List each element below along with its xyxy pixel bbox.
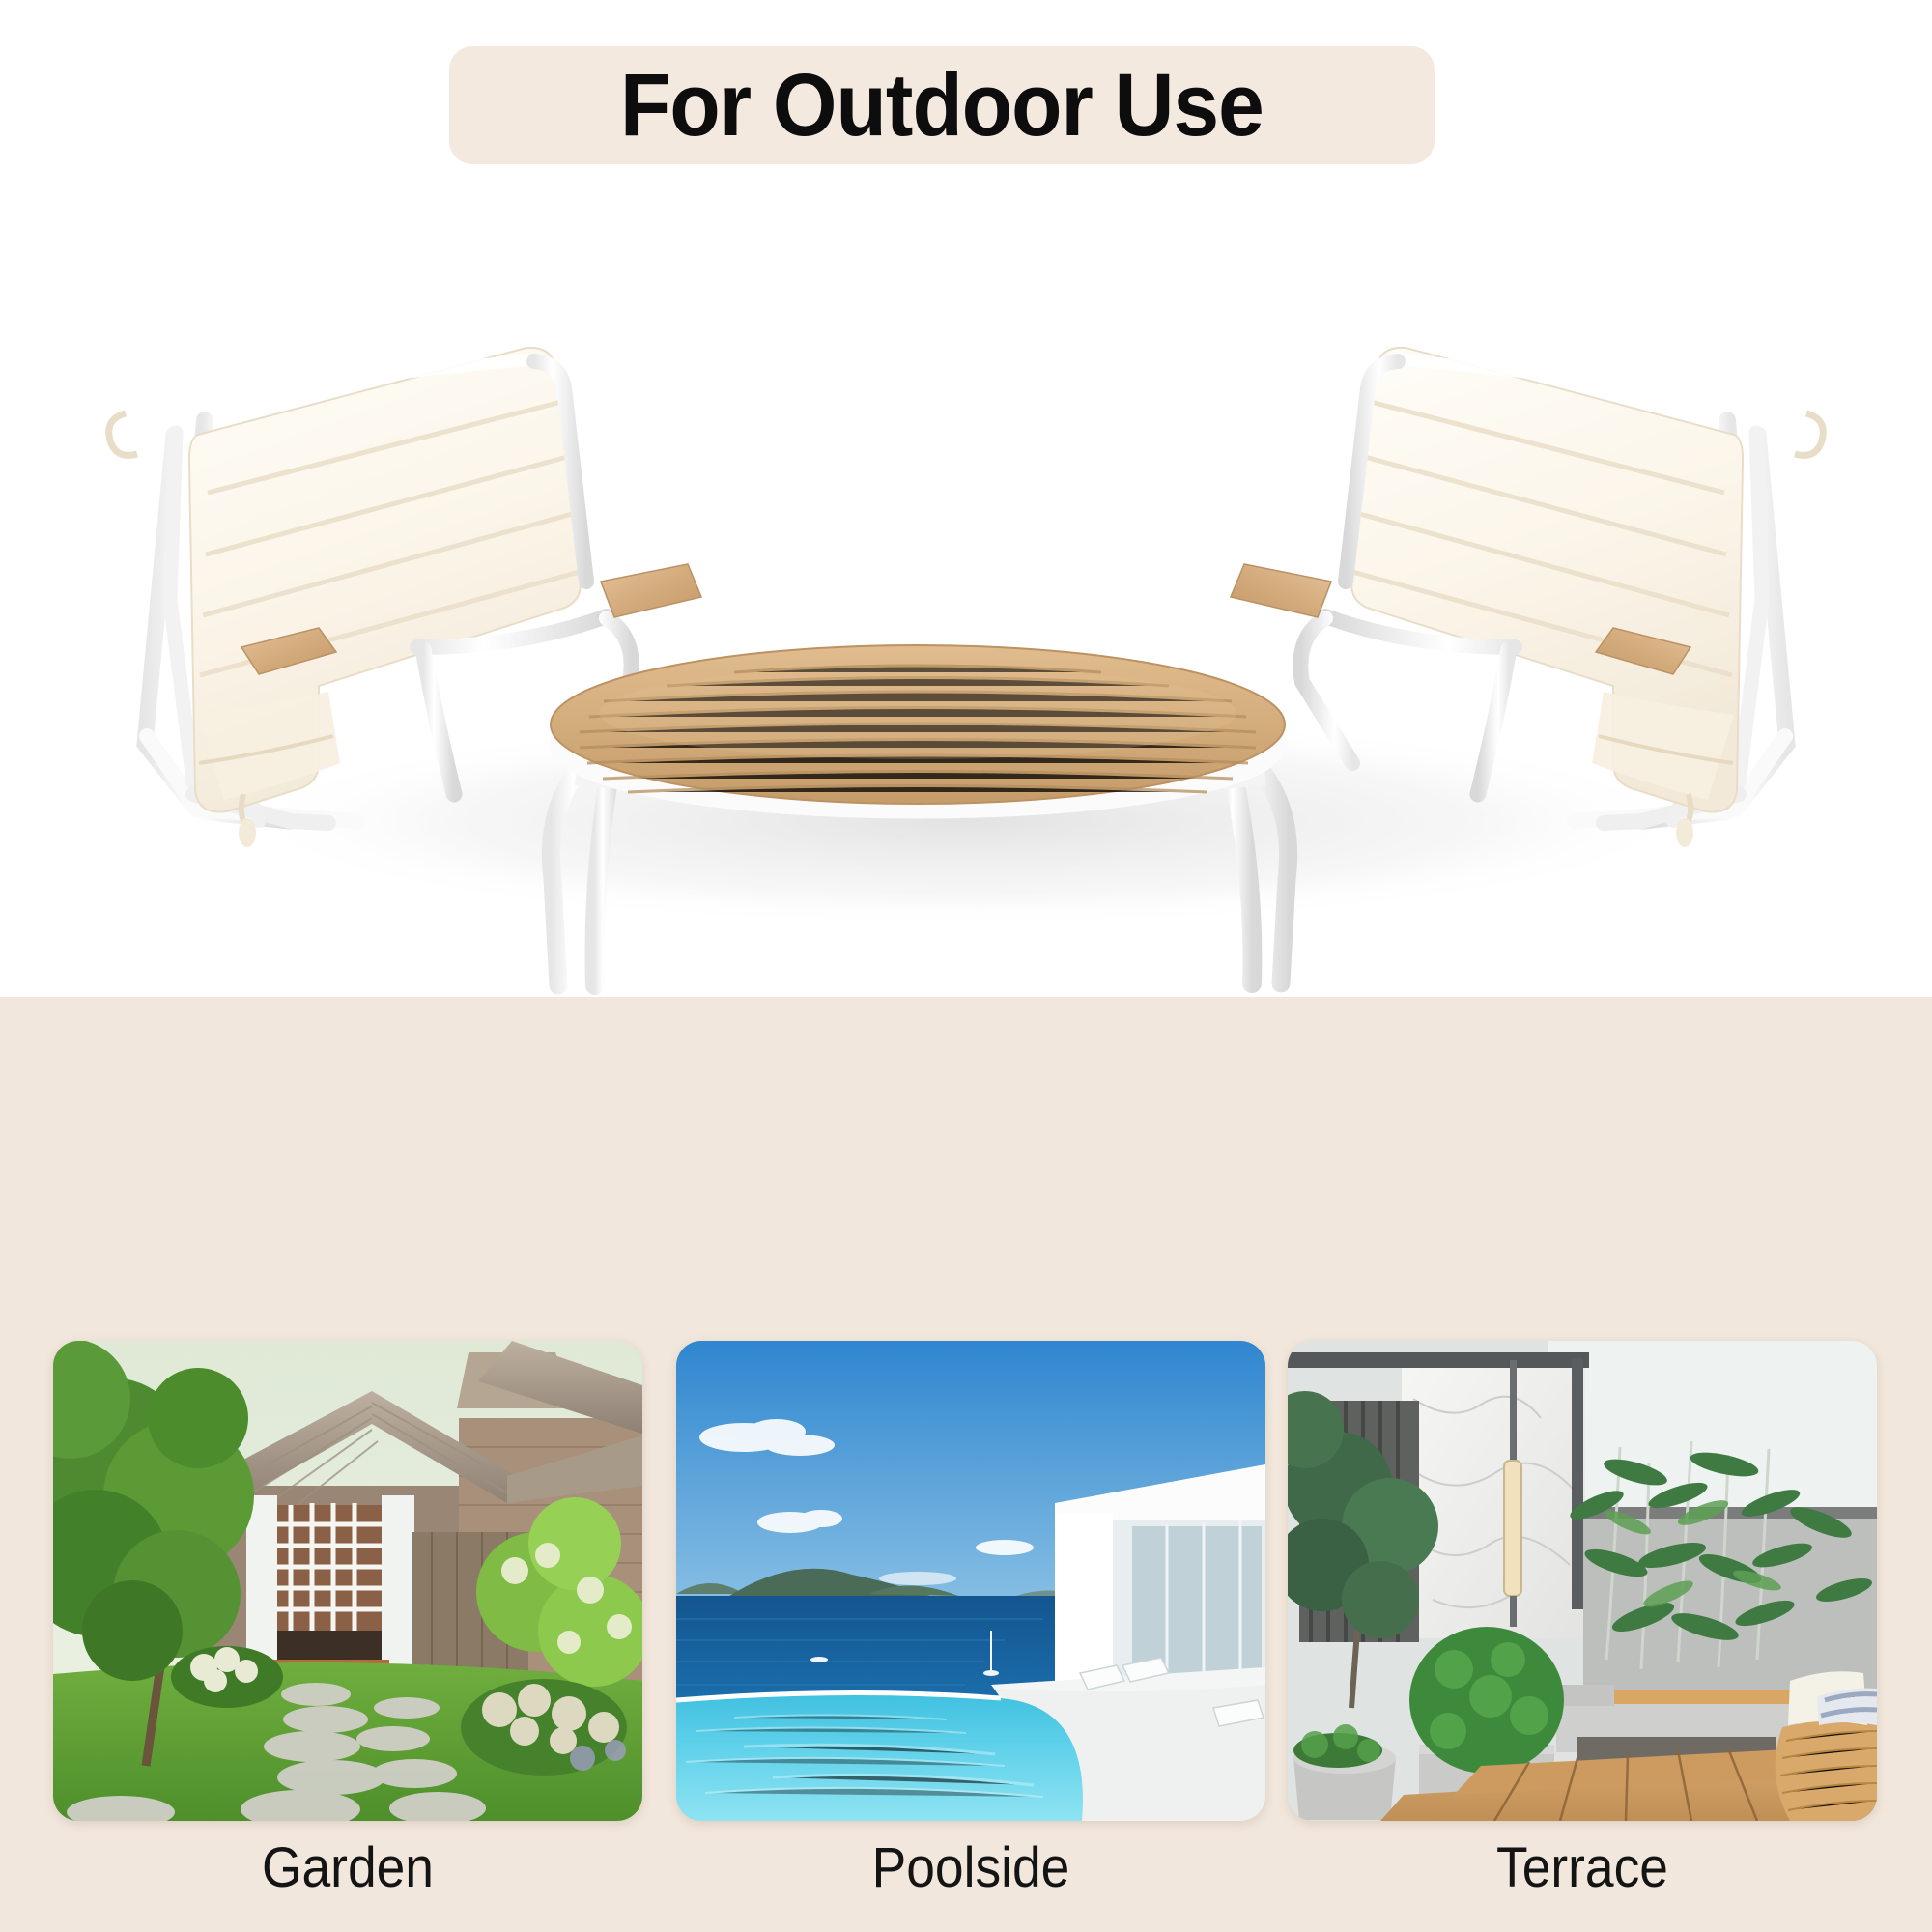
caption-garden: Garden <box>76 1840 618 1896</box>
scene-thumbnail-row <box>0 1341 1932 1824</box>
caption-poolside: Poolside <box>699 1840 1241 1896</box>
product-feature-graphic: For Outdoor Use <box>0 0 1932 1932</box>
scene-caption-row: Garden Poolside Terrace <box>0 1840 1932 1918</box>
scene-thumbnail-poolside[interactable] <box>676 1341 1265 1821</box>
scene-thumbnail-terrace[interactable] <box>1288 1341 1877 1821</box>
scene-thumbnail-garden[interactable] <box>53 1341 642 1821</box>
caption-terrace: Terrace <box>1311 1840 1853 1896</box>
hero-product-image <box>0 145 1932 1034</box>
headline-text: For Outdoor Use <box>620 61 1264 150</box>
